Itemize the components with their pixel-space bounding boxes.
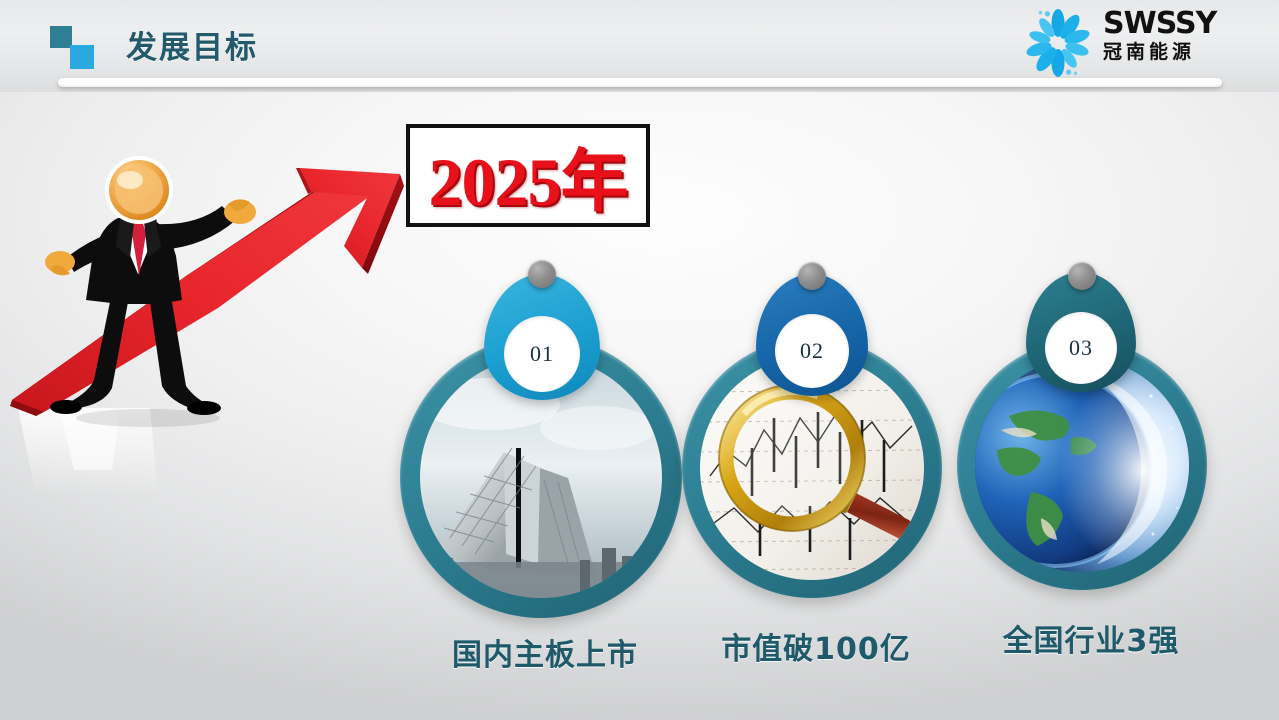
logo-wordmark: SWSSY 冠南能源 bbox=[1103, 8, 1263, 64]
petal-flower-svg bbox=[1021, 6, 1095, 78]
goal-node-1[interactable]: 01 国内主板上市 bbox=[398, 258, 692, 678]
goal-knob-3 bbox=[1068, 262, 1096, 290]
page-title: 发展目标 bbox=[126, 22, 258, 67]
goal-caption-3: 全国行业3强 bbox=[920, 616, 1262, 660]
decor-square-light bbox=[70, 45, 94, 69]
title-decor-squares bbox=[50, 26, 106, 70]
goal-pin-inner-2: 02 bbox=[775, 314, 849, 388]
logo-name: SWSSY bbox=[1103, 8, 1263, 40]
company-logo: SWSSY 冠南能源 bbox=[1011, 4, 1271, 80]
slide-canvas: 发展目标 bbox=[0, 0, 1279, 720]
swssy-petal-flower-logo-icon bbox=[1021, 6, 1095, 78]
goal-number-3: 03 bbox=[1069, 335, 1093, 361]
goal-node-2[interactable]: 02 市值破100亿 bbox=[680, 262, 952, 678]
businessman-on-rising-arrow bbox=[0, 150, 420, 510]
goal-node-3[interactable]: 03 全国行业3强 bbox=[955, 262, 1227, 678]
goal-knob-2 bbox=[798, 262, 826, 290]
goal-number-1: 01 bbox=[530, 341, 554, 367]
goal-knob-1 bbox=[528, 260, 556, 288]
goal-number-2: 02 bbox=[800, 338, 824, 364]
logo-subtitle: 冠南能源 bbox=[1103, 40, 1263, 64]
year-banner: 2025年 bbox=[406, 124, 650, 227]
year-text: 2025年 bbox=[428, 126, 627, 225]
decor-square-dark bbox=[50, 26, 72, 48]
goal-pin-inner-1: 01 bbox=[504, 316, 580, 392]
goal-pin-inner-3: 03 bbox=[1045, 312, 1117, 384]
slide-header: 发展目标 bbox=[0, 0, 1279, 92]
hero-illustration-svg bbox=[0, 150, 420, 510]
